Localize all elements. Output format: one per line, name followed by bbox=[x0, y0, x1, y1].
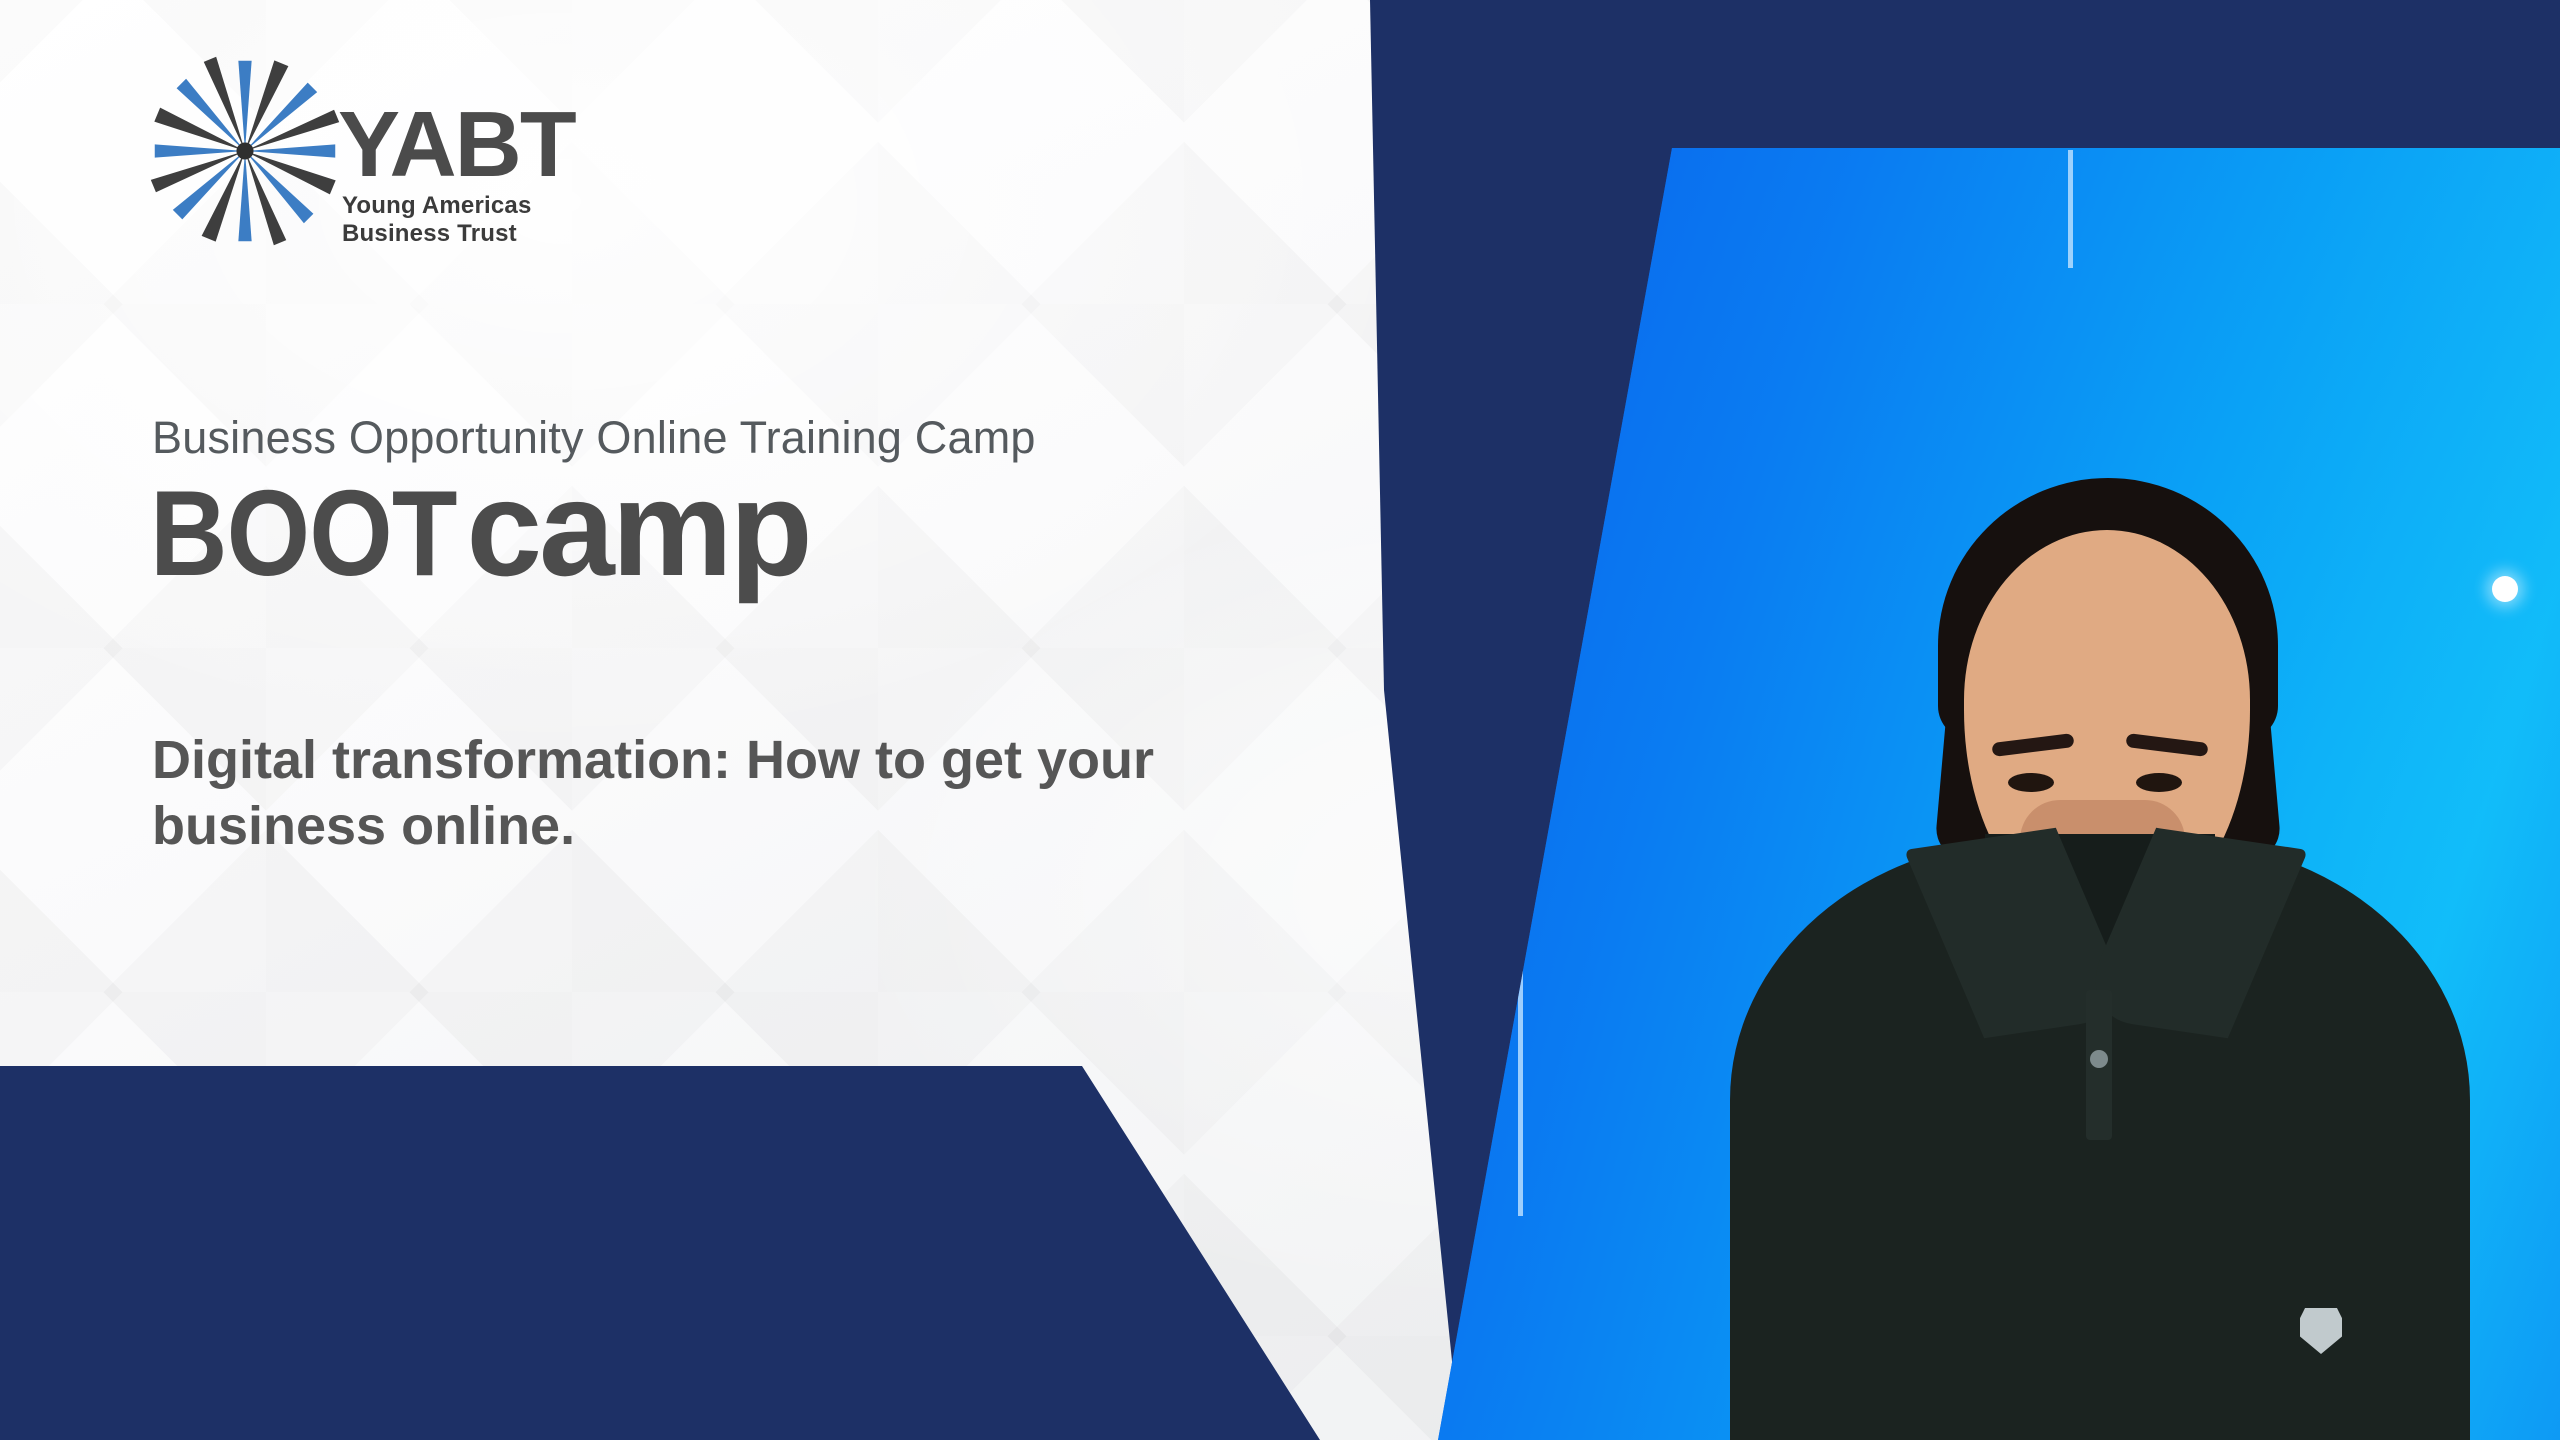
portrait-eye-left bbox=[2008, 773, 2054, 792]
white-dot-accent bbox=[2492, 576, 2518, 602]
logo-wordmark: YABT bbox=[338, 98, 575, 191]
subtitle-text: Digital transformation: How to get your … bbox=[152, 728, 1302, 860]
portrait-eye-right bbox=[2136, 773, 2182, 792]
title-part-camp: camp bbox=[466, 460, 809, 596]
portrait-shirt bbox=[1730, 840, 2470, 1440]
title-part-boot: BOOT bbox=[150, 472, 457, 594]
logo-tagline: Young Americas Business Trust bbox=[342, 192, 620, 248]
portrait-shirt-button bbox=[2090, 1050, 2108, 1068]
presenter-portrait bbox=[1720, 200, 2480, 1440]
page-title: BOOTcamp bbox=[150, 460, 810, 596]
yabt-logo[interactable]: YABT Young Americas Business Trust bbox=[150, 96, 620, 226]
slide-canvas: YABT Young Americas Business Trust Busin… bbox=[0, 0, 2560, 1440]
starburst-icon bbox=[150, 56, 340, 246]
